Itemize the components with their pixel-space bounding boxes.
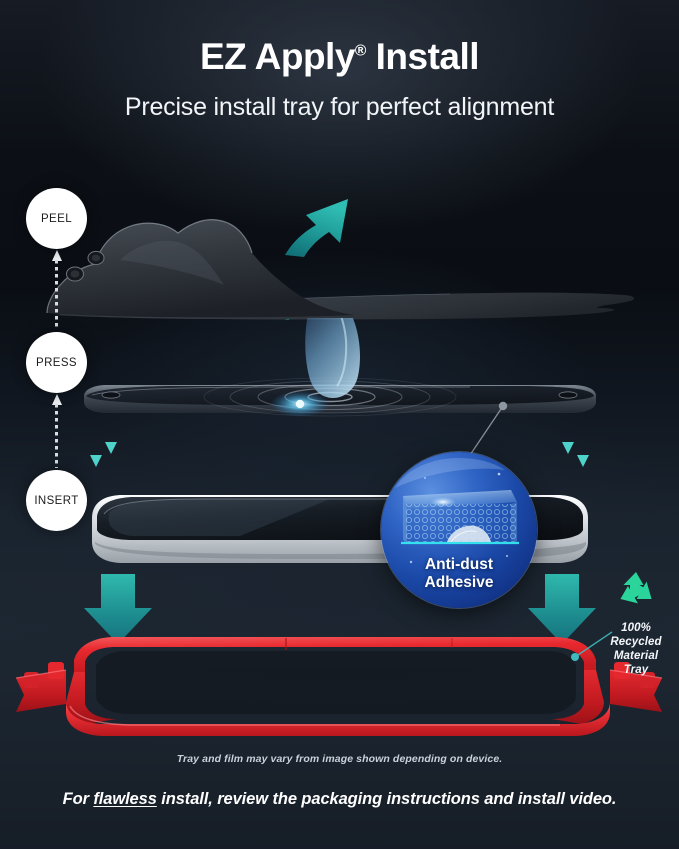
exploded-diagram bbox=[0, 0, 679, 849]
step-label-peel: PEEL bbox=[41, 213, 72, 225]
glass-hole-right bbox=[559, 392, 577, 398]
recycled-material-callout: 100% Recycled Material Tray bbox=[596, 570, 676, 677]
install-footer-note: For flawless install, review the packagi… bbox=[0, 790, 679, 809]
finger-illustration bbox=[305, 318, 360, 398]
tray-tab-left bbox=[16, 662, 66, 712]
step-badge-press[interactable]: PRESS bbox=[26, 332, 87, 393]
install-tray-illustration bbox=[0, 626, 679, 752]
step-connector-insert-to-press bbox=[53, 394, 60, 468]
tray-disclaimer: Tray and film may vary from image shown … bbox=[0, 753, 679, 765]
antidust-adhesive-callout[interactable]: Anti-dust Adhesive bbox=[381, 452, 537, 608]
step-badge-peel[interactable]: PEEL bbox=[26, 188, 87, 249]
step-badge-insert[interactable]: INSERT bbox=[26, 470, 87, 531]
footer-note-post: install, review the packaging instructio… bbox=[157, 790, 617, 808]
recycle-text: 100% Recycled Material Tray bbox=[596, 621, 676, 677]
recycle-line4: Tray bbox=[596, 663, 676, 677]
recycle-line2: Recycled bbox=[596, 635, 676, 649]
peel-film-illustration bbox=[0, 155, 679, 320]
ez-apply-install-infographic: EZ Apply® Install Precise install tray f… bbox=[0, 0, 679, 849]
tray-opening bbox=[96, 651, 576, 714]
antidust-label-line1: Anti-dust bbox=[381, 556, 537, 574]
connector-dashed-line bbox=[55, 260, 58, 330]
antidust-label: Anti-dust Adhesive bbox=[381, 556, 537, 592]
antidust-label-line2: Adhesive bbox=[381, 574, 537, 592]
footer-note-emphasis: flawless bbox=[93, 790, 156, 808]
step-label-press: PRESS bbox=[36, 357, 77, 369]
recycle-line3: Material bbox=[596, 649, 676, 663]
footer-note-pre: For bbox=[63, 790, 94, 808]
glass-hole-left bbox=[102, 392, 120, 398]
recycle-icon bbox=[612, 570, 660, 612]
connector-dashed-line bbox=[55, 404, 58, 468]
recycle-line1: 100% bbox=[596, 621, 676, 635]
step-label-insert: INSERT bbox=[34, 495, 78, 507]
step-connector-press-to-peel bbox=[53, 250, 60, 330]
peel-direction-arrow bbox=[285, 199, 348, 257]
